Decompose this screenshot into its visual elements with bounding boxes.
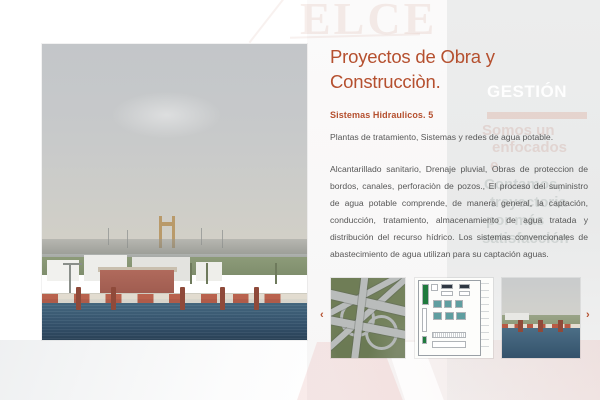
thumbnail-item-1[interactable] <box>331 278 405 358</box>
hero-palm <box>275 263 277 284</box>
plan-photo <box>445 312 454 321</box>
plan-block <box>459 291 470 296</box>
thumbnail-item-2[interactable] <box>415 278 493 358</box>
body-paragraph-2: Alcantarillado sanitario, Drenaje pluvia… <box>330 161 588 263</box>
hero-cloud <box>111 91 222 138</box>
plan-block <box>441 291 453 297</box>
thumbnail-waterfront <box>502 278 580 358</box>
plan-block <box>459 284 470 290</box>
hero-water <box>42 299 307 340</box>
watermark-logo: ELCE <box>300 0 437 45</box>
hero-building <box>196 262 223 280</box>
plan-block <box>422 284 429 305</box>
thumbnail-carousel: ‹ › <box>318 276 598 360</box>
plan-photo <box>433 300 442 308</box>
plan-hatch <box>432 332 466 338</box>
hero-piling <box>180 287 185 311</box>
plan-block <box>422 336 427 344</box>
thumb-piling <box>558 320 563 333</box>
plan-photo <box>433 312 442 321</box>
watermark-diagonal-rule <box>249 0 294 43</box>
hero-crane-arm <box>63 263 82 265</box>
hero-crane-mast <box>69 263 71 296</box>
chevron-right-icon[interactable]: › <box>586 310 590 321</box>
content-column: Proyectos de Obra y Construcciòn. Sistem… <box>330 44 588 263</box>
thumbnail-aerial-interchange <box>331 278 405 358</box>
hero-piling <box>111 287 116 311</box>
main-gallery-image[interactable] <box>42 44 307 340</box>
thumbnail-item-3[interactable] <box>502 278 580 358</box>
section-subtitle: Sistemas Hidraulicos. 5 <box>330 110 588 120</box>
hero-palm <box>206 263 208 284</box>
plan-block <box>441 284 453 290</box>
main-image-illustration <box>42 44 307 340</box>
hero-buildings <box>42 251 307 281</box>
plan-title-lines <box>481 283 489 352</box>
chevron-left-icon[interactable]: ‹ <box>320 310 324 321</box>
thumb-piling <box>518 320 523 333</box>
plan-block <box>422 308 427 332</box>
hero-piling <box>220 287 225 311</box>
plan-block <box>432 341 466 348</box>
hero-piling <box>254 287 259 311</box>
plan-photo <box>444 300 453 308</box>
plan-block <box>431 284 438 291</box>
plan-title-block <box>480 280 490 355</box>
thumb-sky <box>502 278 580 318</box>
thumb-piling <box>538 320 543 333</box>
plan-photo <box>456 312 465 321</box>
hero-palm <box>190 263 192 284</box>
plan-photo <box>455 300 464 308</box>
thumbnail-engineering-plan <box>415 278 493 358</box>
page-title: Proyectos de Obra y Construcciòn. <box>330 44 588 94</box>
hero-tower-crossbar <box>159 222 174 226</box>
hero-piling <box>76 287 81 311</box>
hero-pier-deck <box>42 294 307 303</box>
body-paragraph-1: Plantas de tratamiento, Sistemas y redes… <box>330 129 588 146</box>
